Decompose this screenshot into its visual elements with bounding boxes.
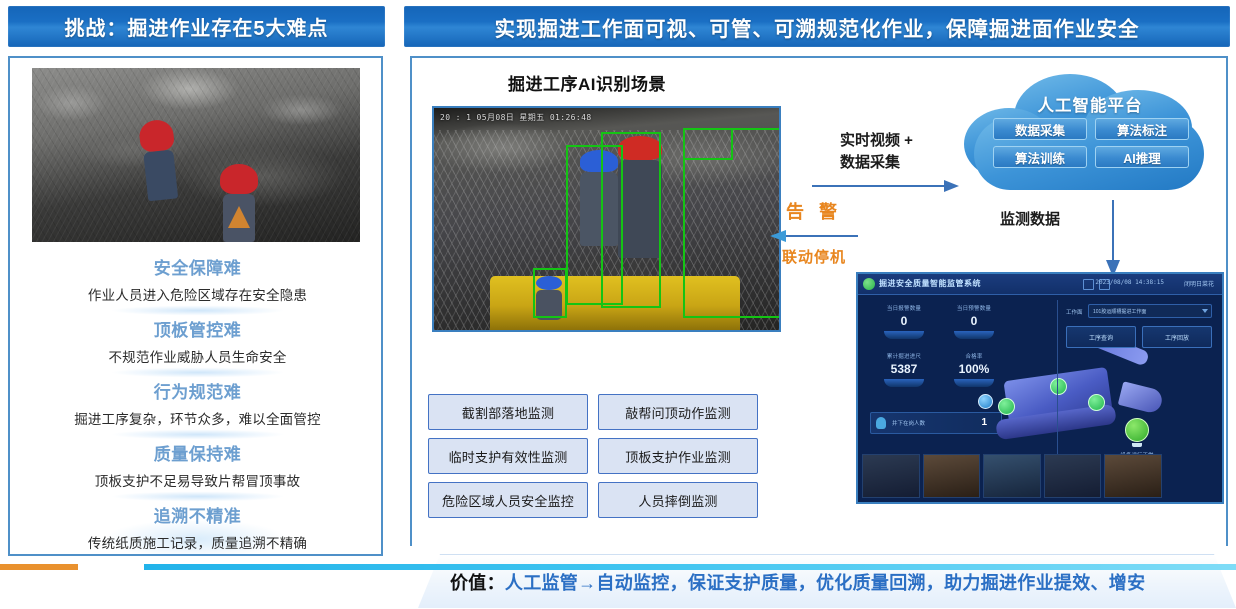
detection-box	[533, 268, 567, 318]
arrow-shaft	[786, 235, 858, 237]
capability-chip-algorithm-training[interactable]: 算法训练	[993, 146, 1087, 168]
sensor-marker-green-icon[interactable]	[998, 398, 1015, 415]
kpi-label: 累计掘进进尺	[876, 352, 932, 360]
monitor-box-roof-support[interactable]: 顶板支护作业监测	[598, 438, 758, 474]
kpi-base-glow	[884, 379, 924, 387]
video-timestamp-osd: 20 : 1 05月08日 星期五 01:26:48	[440, 112, 592, 123]
challenge-description: 掘进工序复杂，环节众多，难以全面管控	[10, 408, 385, 428]
arrow-right-icon	[812, 180, 964, 192]
camera-thumbnail[interactable]	[923, 454, 981, 498]
cloud-capability-list: 数据采集 算法标注 算法训练 AI推理	[988, 118, 1194, 168]
monitoring-dashboard-screenshot[interactable]: 掘进安全质量智能监管系统 2023/08/08 14:38:15 闭明日菜花 当…	[856, 272, 1224, 504]
arrow-shaft	[812, 185, 946, 187]
workface-select-label: 工作面	[1066, 308, 1083, 316]
solution-banner: 实现掘进工作面可视、可管、可溯规范化作业，保障掘进面作业安全	[404, 6, 1230, 47]
challenge-title: 行为规范难	[10, 378, 385, 403]
kpi-label: 当日预警数量	[946, 304, 1002, 312]
challenge-item: 追溯不精准 传统纸质施工记录，质量追溯不精确	[10, 502, 385, 552]
monitor-box-person-fall[interactable]: 人员摔倒监测	[598, 482, 758, 518]
red-helmet-icon	[138, 118, 175, 153]
arrow-left-icon	[770, 229, 858, 243]
camera-thumbnail[interactable]	[983, 454, 1041, 498]
camera-thumbnail-strip	[862, 454, 1162, 498]
solution-column: 实现掘进工作面可视、可管、可溯规范化作业，保障掘进面作业安全 掘进工序AI识别场…	[404, 6, 1230, 558]
photo-grain-overlay	[32, 68, 360, 242]
red-helmet-icon	[220, 164, 258, 194]
kpi-card: 当日报警数量 0	[876, 304, 932, 339]
dashboard-datetime: 2023/08/08 14:38:15	[1095, 279, 1164, 286]
camera-thumbnail[interactable]	[862, 454, 920, 498]
challenge-title: 质量保持难	[10, 440, 385, 465]
bottom-accent-bar-orange	[0, 564, 78, 570]
monitor-box-roof-tapping[interactable]: 敲帮问顶动作监测	[598, 394, 758, 430]
cloud-title: 人工智能平台	[960, 92, 1220, 116]
worker-body	[144, 150, 178, 201]
sensor-marker-blue-icon[interactable]	[978, 394, 993, 409]
process-playback-button[interactable]: 工序回放	[1142, 326, 1212, 348]
dashboard-title: 掘进安全质量智能监管系统	[879, 278, 981, 289]
person-icon	[876, 417, 886, 429]
grid-icon[interactable]	[1083, 279, 1094, 290]
challenge-description: 不规范作业威胁人员生命安全	[10, 346, 385, 366]
challenge-item: 安全保障难 作业人员进入危险区域存在安全隐患	[10, 254, 385, 304]
bottom-accent-bar-cyan	[144, 564, 1236, 570]
detection-box	[683, 128, 733, 160]
dashboard-logo-icon	[863, 278, 875, 290]
cloud-to-dashboard-label: 监测数据	[1000, 208, 1060, 229]
bulb-stem	[1132, 443, 1142, 447]
capability-chip-ai-inference[interactable]: AI推理	[1095, 146, 1189, 168]
challenges-column: 挑战：掘进作业存在5大难点 安全保障难 作业人员进入危险区域存在安全隐患 顶板管…	[8, 6, 385, 558]
monitor-box-cutting-landing[interactable]: 截割部落地监测	[428, 394, 588, 430]
alarm-flow: 告 警 联动停机	[770, 198, 858, 267]
challenge-item: 顶板管控难 不规范作业威胁人员生命安全	[10, 316, 385, 366]
workface-select-value: 101胶运顺槽掘进工作面	[1093, 308, 1146, 315]
kpi-value: 5387	[876, 362, 932, 376]
challenge-description: 顶板支护不足易导致片帮冒顶事故	[10, 470, 385, 490]
video-to-cloud-label-line1: 实时视频 +	[840, 130, 913, 152]
challenge-title: 安全保障难	[10, 254, 385, 279]
camera-thumbnail[interactable]	[1044, 454, 1102, 498]
value-statement-ribbon: 价值：人工监管→自动监控，保证支护质量，优化质量回溯，助力掘进作业提效、增安	[418, 554, 1236, 609]
workface-select[interactable]: 101胶运顺槽掘进工作面	[1088, 304, 1212, 318]
scene-title: 掘进工序AI识别场景	[508, 70, 666, 95]
kpi-label: 当日报警数量	[876, 304, 932, 312]
process-query-button[interactable]: 工序查询	[1066, 326, 1136, 348]
chevron-down-icon	[1202, 309, 1208, 313]
challenge-item: 质量保持难 顶板支护不足易导致片帮冒顶事故	[10, 440, 385, 490]
value-label: 价值：	[450, 573, 505, 593]
capability-chip-data-collection[interactable]: 数据采集	[993, 118, 1087, 140]
monitoring-capability-grid: 截割部落地监测 敲帮问顶动作监测 临时支护有效性监测 顶板支护作业监测 危险区域…	[428, 394, 758, 518]
detection-box	[601, 132, 661, 308]
alarm-label: 告 警	[770, 198, 858, 224]
challenge-item: 行为规范难 掘进工序复杂，环节众多，难以全面管控	[10, 378, 385, 428]
monitor-box-temporary-support[interactable]: 临时支护有效性监测	[428, 438, 588, 474]
green-status-bulb-icon	[1125, 418, 1149, 442]
mine-site-photo	[32, 68, 360, 242]
dashboard-topbar: 掘进安全质量智能监管系统 2023/08/08 14:38:15 闭明日菜花	[858, 274, 1222, 295]
dashboard-user[interactable]: 闭明日菜花	[1184, 279, 1214, 288]
interlock-shutdown-label: 联动停机	[770, 246, 858, 267]
arrow-head	[944, 180, 959, 192]
solution-panel: 掘进工序AI识别场景 20 : 1 05月08日 星期五 0	[410, 56, 1228, 546]
value-text: 人工监管→自动监控，保证支护质量，优化质量回溯，助力掘进作业提效、增安	[505, 573, 1146, 593]
arrow-down-icon	[1106, 200, 1120, 278]
value-statement: 价值：人工监管→自动监控，保证支护质量，优化质量回溯，助力掘进作业提效、增安	[450, 569, 1145, 595]
worker-figure	[220, 164, 258, 240]
status-indicator: 设备运行正常	[1102, 418, 1172, 459]
arrow-shaft	[1112, 200, 1114, 262]
video-to-cloud-label: 实时视频 + 数据采集	[840, 130, 913, 174]
video-to-cloud-label-line2: 数据采集	[840, 152, 913, 174]
challenge-description: 作业人员进入危险区域存在安全隐患	[10, 284, 385, 304]
challenges-panel: 安全保障难 作业人员进入危险区域存在安全隐患 顶板管控难 不规范作业威胁人员生命…	[8, 56, 383, 556]
capability-chip-algorithm-labeling[interactable]: 算法标注	[1095, 118, 1189, 140]
challenge-title: 追溯不精准	[10, 502, 385, 527]
kpi-value: 0	[946, 314, 1002, 328]
ai-video-feed[interactable]: 20 : 1 05月08日 星期五 01:26:48	[432, 106, 781, 332]
challenges-banner: 挑战：掘进作业存在5大难点	[8, 6, 385, 47]
ai-platform-cloud: 人工智能平台 数据采集 算法标注 算法训练 AI推理	[960, 74, 1220, 198]
kpi-card: 累计掘进进尺 5387	[876, 352, 932, 387]
challenge-description: 传统纸质施工记录，质量追溯不精确	[10, 532, 385, 552]
monitor-box-hazard-area-personnel[interactable]: 危险区域人员安全监控	[428, 482, 588, 518]
arrow-head	[770, 230, 786, 242]
kpi-base-glow	[884, 331, 924, 339]
camera-thumbnail[interactable]	[1104, 454, 1162, 498]
kpi-value: 0	[876, 314, 932, 328]
challenge-title: 顶板管控难	[10, 316, 385, 341]
personnel-label: 井下在岗人数	[892, 419, 925, 427]
